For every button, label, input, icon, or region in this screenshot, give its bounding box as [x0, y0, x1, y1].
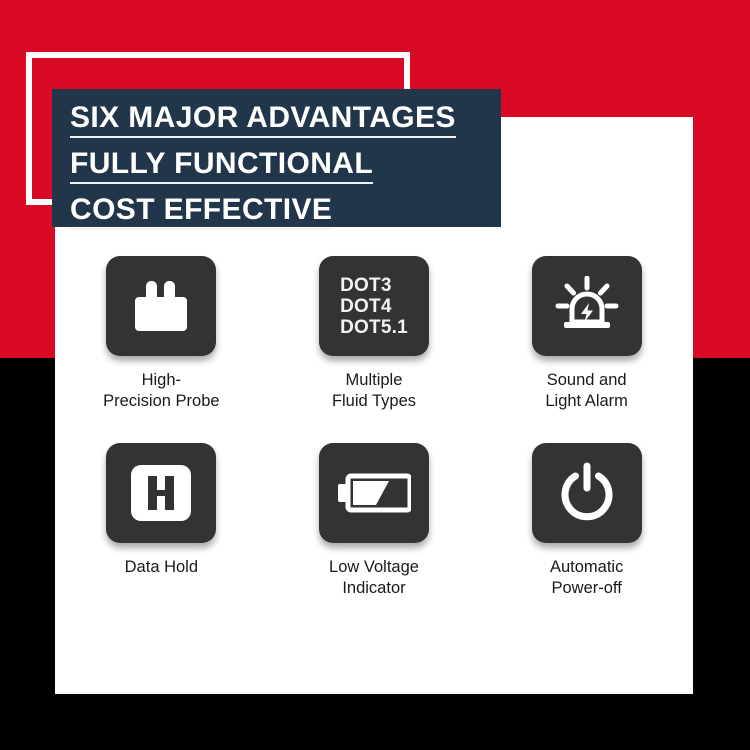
feature-caption: Sound and Light Alarm [545, 370, 628, 412]
feature-multiple-fluid-types[interactable]: DOT3 DOT4 DOT5.1 Multiple Fluid Types [279, 256, 469, 412]
dot4-label: DOT4 [340, 296, 408, 317]
caption-line-1: Sound and [545, 370, 628, 391]
battery-low-icon [337, 471, 411, 515]
headline-line-3: COST EFFECTIVE [70, 195, 332, 230]
caption-line-2: Light Alarm [545, 391, 628, 412]
feature-caption: High- Precision Probe [103, 370, 219, 412]
caption-line-1: Low Voltage [329, 557, 419, 578]
data-hold-icon-tile [106, 443, 216, 543]
probe-icon-tile [106, 256, 216, 356]
feature-caption: Multiple Fluid Types [332, 370, 416, 412]
feature-high-precision-probe[interactable]: High- Precision Probe [66, 256, 256, 412]
dot3-label: DOT3 [340, 275, 408, 296]
caption-line-1: High- [103, 370, 219, 391]
poster-root: SIX MAJOR ADVANTAGES FULLY FUNCTIONAL CO… [0, 0, 750, 750]
feature-sound-and-light-alarm[interactable]: Sound and Light Alarm [492, 256, 682, 412]
power-off-icon [557, 462, 617, 524]
headline-panel: SIX MAJOR ADVANTAGES FULLY FUNCTIONAL CO… [52, 89, 501, 227]
probe-icon [132, 279, 190, 333]
headline-line-2: FULLY FUNCTIONAL [70, 149, 373, 184]
siren-alarm-icon-tile [532, 256, 642, 356]
caption-line-2: Power-off [550, 578, 623, 599]
feature-data-hold[interactable]: Data Hold [66, 443, 256, 578]
caption-line-1: Multiple [332, 370, 416, 391]
caption-line-2: Fluid Types [332, 391, 416, 412]
caption-line-2: Indicator [329, 578, 419, 599]
siren-alarm-icon [555, 276, 619, 336]
caption-line-1: Data Hold [125, 557, 198, 578]
feature-caption: Automatic Power-off [550, 557, 623, 599]
dot51-label: DOT5.1 [340, 317, 408, 338]
battery-low-icon-tile [319, 443, 429, 543]
feature-row-1: High- Precision Probe DOT3 DOT4 DOT5.1 M… [55, 256, 693, 412]
feature-low-voltage-indicator[interactable]: Low Voltage Indicator [279, 443, 469, 599]
feature-grid: High- Precision Probe DOT3 DOT4 DOT5.1 M… [55, 256, 693, 599]
caption-line-2: Precision Probe [103, 391, 219, 412]
feature-row-2: Data Hold Low Voltage Ind [55, 443, 693, 599]
fluid-types-icon: DOT3 DOT4 DOT5.1 [340, 275, 408, 338]
feature-caption: Data Hold [125, 557, 198, 578]
feature-caption: Low Voltage Indicator [329, 557, 419, 599]
feature-automatic-power-off[interactable]: Automatic Power-off [492, 443, 682, 599]
headline-line-1: SIX MAJOR ADVANTAGES [70, 103, 456, 138]
caption-line-1: Automatic [550, 557, 623, 578]
power-off-icon-tile [532, 443, 642, 543]
data-hold-icon [130, 464, 192, 522]
fluid-types-icon-tile: DOT3 DOT4 DOT5.1 [319, 256, 429, 356]
